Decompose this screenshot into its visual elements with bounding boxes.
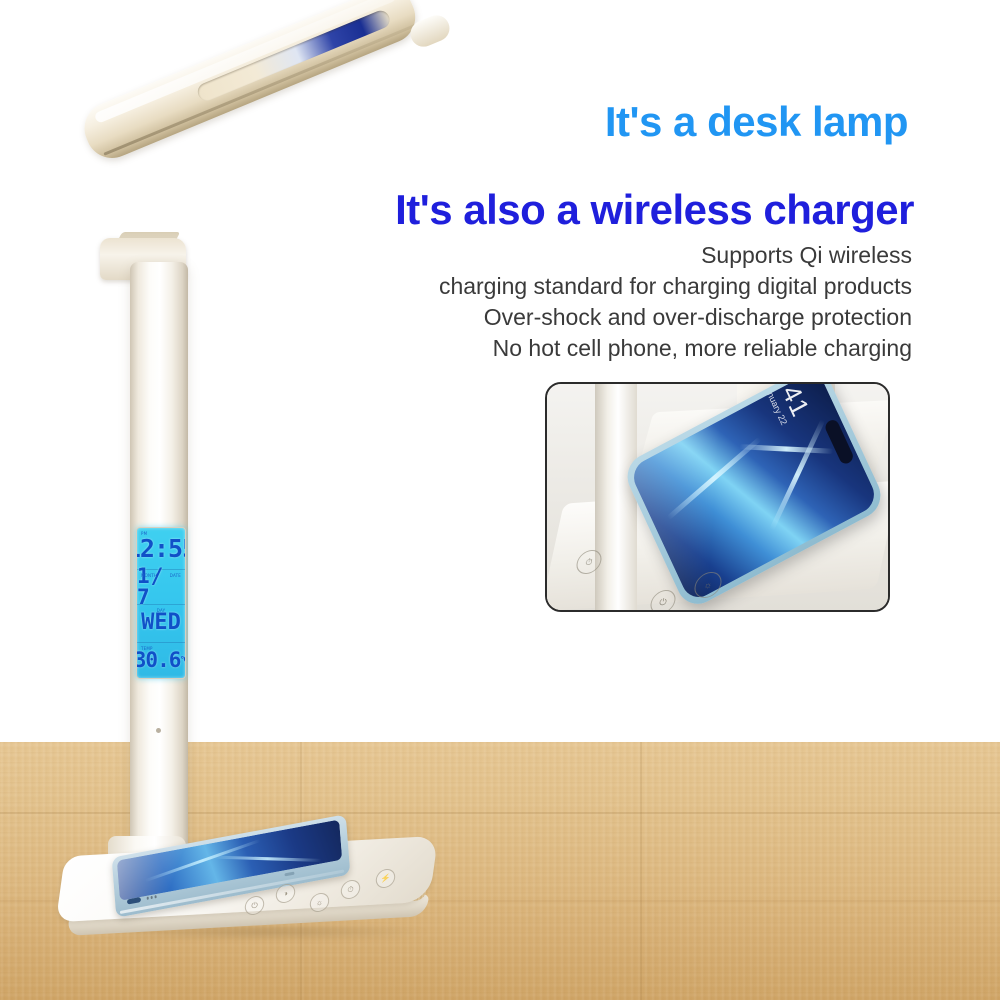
lcd-weekday-row: DAY WED — [137, 605, 185, 643]
speaker-grill — [151, 896, 153, 899]
lamp-head-highlight — [94, 0, 398, 124]
lcd-month-label: MONTH — [141, 573, 157, 578]
speaker-grill — [155, 895, 157, 898]
lcd-temp-value: 30.6 — [136, 650, 180, 671]
feature-bullet: charging standard for charging digital p… — [439, 271, 912, 302]
wallpaper-ray — [739, 444, 833, 454]
inset-detail-photo: 16:41 Friday, January 22 ⏱ ☼ ⏻ — [545, 382, 890, 612]
phone-notch — [823, 418, 855, 466]
inset-lamp-column — [595, 384, 637, 610]
lcd-weekday-value: WED — [141, 612, 181, 634]
lcd-ampm-label: PM — [141, 531, 147, 536]
headline-secondary: It's also a wireless charger — [395, 186, 914, 234]
lcd-date-row: MONTH DATE 1/ 7 — [137, 570, 185, 605]
wallpaper-ray — [213, 856, 321, 862]
feature-bullet: Supports Qi wireless — [439, 240, 912, 271]
lcd-temperature-row: TEMP 30.6°C — [137, 643, 185, 678]
feature-bullet: Over-shock and over-discharge protection — [439, 302, 912, 333]
lamp-led-panel — [195, 8, 392, 103]
headline-primary: It's a desk lamp — [605, 98, 908, 146]
lcd-time-value: 12:55 — [136, 536, 186, 561]
wallpaper-ray — [769, 419, 825, 531]
sensor-dot-icon — [156, 728, 161, 733]
feature-bullet: No hot cell phone, more reliable chargin… — [439, 333, 912, 364]
lamp-head-shade — [77, 0, 424, 166]
lcd-temp-unit: °C — [180, 656, 186, 664]
product-marketing-image: PM 12:55 MONTH DATE 1/ 7 DAY WED TEMP 30… — [0, 0, 1000, 1000]
lcd-date-label: DATE — [170, 573, 181, 578]
speaker-grill — [147, 897, 149, 900]
feature-bullet-list: Supports Qi wireless charging standard f… — [439, 240, 912, 364]
phone-side-button — [284, 872, 294, 877]
lcd-display-panel[interactable]: PM 12:55 MONTH DATE 1/ 7 DAY WED TEMP 30… — [136, 527, 186, 679]
lcd-day-label: DAY — [157, 608, 165, 613]
charging-port-icon — [127, 897, 141, 905]
lcd-temp-label: TEMP — [141, 646, 153, 651]
desk-grain-line — [640, 742, 642, 1000]
lockscreen-time: 16:41 — [759, 382, 816, 422]
